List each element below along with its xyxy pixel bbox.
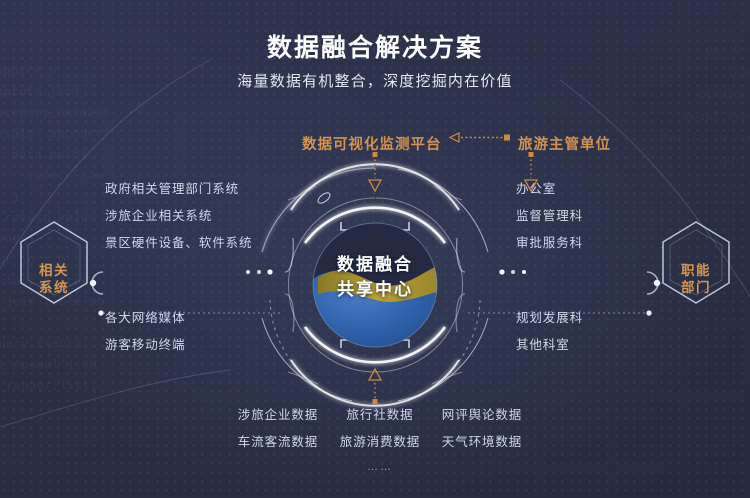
center-hub-line1: 数据融合 [305,252,445,277]
bottom-connector [369,369,381,404]
list-item: 规划发展科 [516,305,583,332]
right-bottom-department-list: 规划发展科 其他科室 [516,305,583,359]
grid-cell: 涉旅企业数据 [230,404,326,423]
table-row: 涉旅企业数据 旅行社数据 网评舆论数据 [230,404,530,423]
table-row: 车流客流数据 旅游消费数据 天气环境数据 [230,431,530,450]
left-bottom-system-list: 各大网络媒体 游客移动终端 [105,305,185,359]
hexagon-left-line2: 系统 [24,279,84,296]
list-item: 涉旅企业相关系统 [105,203,252,230]
grid-cell: 旅行社数据 [332,404,428,423]
list-item: 各大网络媒体 [105,305,185,332]
label-visualization-platform: 数据可视化监测平台 [302,133,442,154]
list-item: 游客移动终端 [105,332,185,359]
grid-cell: 天气环境数据 [434,431,530,450]
hexagon-right-line1: 职能 [666,262,726,279]
list-item: 审批服务科 [516,230,583,257]
list-item: 办公室 [516,176,583,203]
list-item: 景区硬件设备、软件系统 [105,230,252,257]
hexagon-right-line2: 部门 [666,279,726,296]
top-connector-left [369,152,381,191]
center-hub-label: 数据融合 共享中心 [305,252,445,302]
label-link-arrow [450,133,510,142]
grid-cell: 车流客流数据 [230,431,326,450]
list-item: 监督管理科 [516,203,583,230]
label-tourism-authority: 旅游主管单位 [518,133,611,154]
grid-cell: 网评舆论数据 [434,404,530,423]
center-hub-line2: 共享中心 [305,277,445,302]
page-title: 数据融合解决方案 [0,28,750,64]
hexagon-left-line1: 相关 [24,262,84,279]
hexagon-right-label: 职能 部门 [666,262,726,296]
code-wash-right: var k = 0 load() bind(data) model.sync()… [470,40,750,460]
grid-ellipsis: …… [230,461,530,473]
list-item: 其他科室 [516,332,583,359]
right-top-department-list: 办公室 监督管理科 审批服务科 [516,176,583,257]
list-item: 政府相关管理部门系统 [105,176,252,203]
bottom-data-grid: 涉旅企业数据 旅行社数据 网评舆论数据 车流客流数据 旅游消费数据 天气环境数据… [230,404,530,458]
code-wash-left: require_o Captute.json Category_databas … [0,58,352,461]
hexagon-left-label: 相关 系统 [24,262,84,296]
page-subtitle: 海量数据有机整合，深度挖掘内在价值 [0,70,750,91]
infographic-canvas: require_o Captute.json Category_databas … [0,0,750,498]
grid-cell: 旅游消费数据 [332,431,428,450]
left-top-system-list: 政府相关管理部门系统 涉旅企业相关系统 景区硬件设备、软件系统 [105,176,252,257]
